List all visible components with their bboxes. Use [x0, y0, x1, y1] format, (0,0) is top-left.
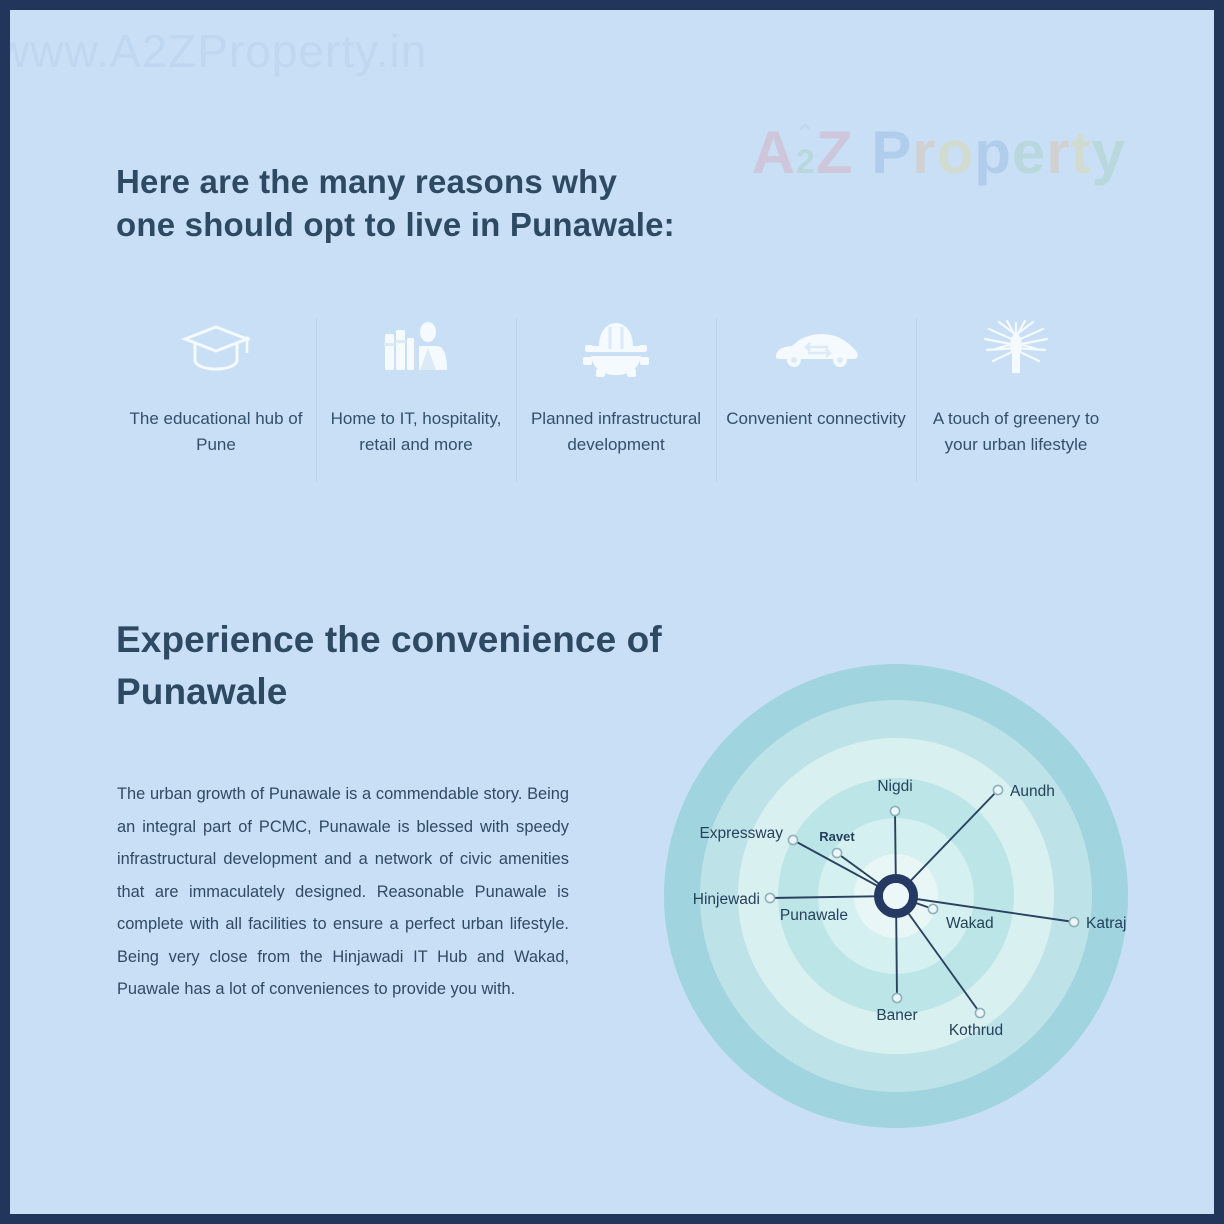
hard-hat-gear-icon: [516, 318, 716, 378]
site-watermark: www.A2ZProperty.in: [10, 24, 427, 78]
logo-letter: e: [1012, 119, 1046, 186]
node-dot-katraj[interactable]: [1069, 917, 1078, 926]
logo-letter: 2: [796, 143, 816, 181]
feature-item-education: The educational hub of Pune: [116, 310, 316, 490]
node-label-aundh: Aundh: [1010, 783, 1055, 800]
logo-letter: p: [974, 119, 1012, 186]
node-dot-ravet[interactable]: [832, 848, 841, 857]
node-dot-nigdi[interactable]: [890, 806, 899, 815]
car-icon: [716, 318, 916, 378]
logo-letter: [854, 119, 872, 186]
tree-icon: [916, 318, 1116, 378]
a2z-property-logo: ⌃ A2Z Property: [752, 118, 1126, 187]
node-dot-hinjewadi[interactable]: [765, 893, 774, 902]
node-dot-kothrud[interactable]: [975, 1008, 984, 1017]
logo-letter: r: [912, 119, 936, 186]
graduation-cap-icon: [116, 318, 316, 378]
connectivity-diagram: NigdiAundhKatrajKothrudBanerWakadHinjewa…: [620, 630, 1180, 1170]
node-dot-wakad[interactable]: [928, 904, 937, 913]
node-label-expressway: Expressway: [699, 825, 783, 842]
business-person-icon: [316, 318, 516, 378]
feature-item-connectivity: Convenient connectivity: [716, 310, 916, 490]
node-label-nigdi: Nigdi: [877, 778, 912, 795]
node-dot-expressway[interactable]: [788, 835, 797, 844]
node-label-katraj: Katraj: [1086, 915, 1127, 932]
node-label-hinjewadi: Hinjewadi: [693, 891, 760, 908]
logo-letter: Z: [816, 119, 854, 186]
feature-label: Home to IT, hospitality, retail and more: [316, 406, 516, 458]
page-title: Here are the many reasons why one should…: [116, 160, 676, 246]
node-label-baner: Baner: [876, 1007, 917, 1024]
logo-letter: P: [871, 119, 912, 186]
feature-item-greenery: A touch of greenery to your urban lifest…: [916, 310, 1116, 490]
node-label-punawale: Punawale: [780, 907, 848, 924]
node-label-wakad: Wakad: [946, 915, 994, 932]
feature-item-infrastructure: Planned infrastructural development: [516, 310, 716, 490]
node-label-ravet: Ravet: [819, 829, 855, 844]
logo-tick-icon: ⌃: [796, 120, 815, 146]
feature-item-it-hub: Home to IT, hospitality, retail and more: [316, 310, 516, 490]
logo-letter: r: [1046, 119, 1070, 186]
infographic-page: www.A2ZProperty.in ⌃ A2Z Property Here a…: [10, 10, 1214, 1214]
node-dot-baner[interactable]: [892, 993, 901, 1002]
feature-label: Convenient connectivity: [716, 406, 916, 432]
logo-letter: A: [752, 119, 796, 186]
feature-label: Planned infrastructural development: [516, 406, 716, 458]
feature-label: A touch of greenery to your urban lifest…: [916, 406, 1116, 458]
logo-letter: y: [1092, 119, 1126, 186]
connectivity-diagram-svg: NigdiAundhKatrajKothrudBanerWakadHinjewa…: [620, 630, 1180, 1170]
node-label-kothrud: Kothrud: [949, 1022, 1003, 1039]
feature-strip: The educational hub of Pune Hom: [116, 310, 1116, 490]
node-dot-aundh[interactable]: [993, 785, 1002, 794]
logo-letter: o: [937, 119, 975, 186]
section-body-text: The urban growth of Punawale is a commen…: [117, 778, 569, 1006]
feature-label: The educational hub of Pune: [116, 406, 316, 458]
logo-letter: t: [1071, 119, 1092, 186]
hub-center: [883, 883, 909, 909]
